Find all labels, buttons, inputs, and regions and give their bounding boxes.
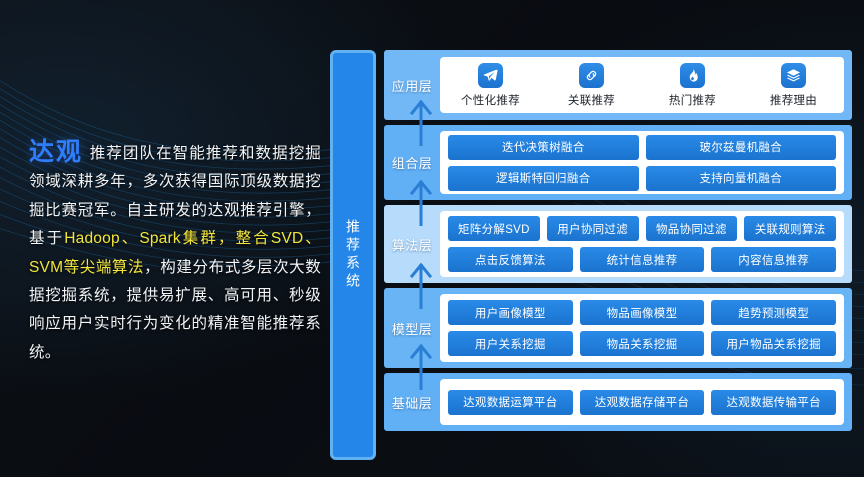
app-item-personalized[interactable]: 个性化推荐 (450, 63, 532, 108)
layer-algorithm[interactable]: 算法层 矩阵分解SVD 用户协同过滤 物品协同过滤 关联规则算法 点击反馈算法 … (384, 205, 852, 283)
chip-user-relation-mining[interactable]: 用户关系挖掘 (448, 331, 573, 356)
layer-composition[interactable]: 组合层 迭代决策树融合 玻尔兹曼机融合 逻辑斯特回归融合 支持向量机融合 (384, 125, 852, 200)
chip-row: 矩阵分解SVD 用户协同过滤 物品协同过滤 关联规则算法 (448, 216, 836, 241)
chip-statistical-rec[interactable]: 统计信息推荐 (580, 247, 705, 272)
app-item-related-label: 关联推荐 (568, 92, 615, 108)
composition-chip-grid: 迭代决策树融合 玻尔兹曼机融合 逻辑斯特回归融合 支持向量机融合 (440, 131, 844, 194)
system-rail: 推荐系统 (330, 50, 376, 460)
chip-user-profile-model[interactable]: 用户画像模型 (448, 300, 573, 325)
intro-paragraph: 达观推荐团队在智能推荐和数据挖掘领域深耕多年，多次获得国际顶级数据挖掘比赛冠军。… (29, 138, 321, 367)
intro-copy-block: 达观推荐团队在智能推荐和数据挖掘领域深耕多年，多次获得国际顶级数据挖掘比赛冠军。… (29, 138, 321, 367)
layer-stack: 应用层 个性化推荐 关联推荐 (384, 50, 852, 460)
chip-row: 用户关系挖掘 物品关系挖掘 用户物品关系挖掘 (448, 331, 836, 356)
chip-row: 逻辑斯特回归融合 支持向量机融合 (448, 166, 836, 191)
app-item-reason-label: 推荐理由 (770, 92, 817, 108)
app-item-hot[interactable]: 热门推荐 (652, 63, 734, 108)
chip-transport-platform[interactable]: 达观数据传输平台 (711, 390, 836, 415)
layer-composition-label: 组合层 (384, 153, 440, 172)
chip-user-cf[interactable]: 用户协同过滤 (547, 216, 639, 241)
send-icon (478, 63, 503, 88)
algorithm-chip-grid: 矩阵分解SVD 用户协同过滤 物品协同过滤 关联规则算法 点击反馈算法 统计信息… (440, 211, 844, 277)
chip-user-item-relation-mining[interactable]: 用户物品关系挖掘 (711, 331, 836, 356)
chip-gbdt-fusion[interactable]: 迭代决策树融合 (448, 135, 639, 160)
chip-row: 迭代决策树融合 玻尔兹曼机融合 (448, 135, 836, 160)
chip-item-cf[interactable]: 物品协同过滤 (646, 216, 738, 241)
chip-row: 用户画像模型 物品画像模型 趋势预测模型 (448, 300, 836, 325)
app-item-reason[interactable]: 推荐理由 (753, 63, 835, 108)
chip-row: 达观数据运算平台 达观数据存储平台 达观数据传输平台 (448, 390, 836, 415)
brand-name: 达观 (29, 138, 83, 166)
chip-trend-prediction-model[interactable]: 趋势预测模型 (711, 300, 836, 325)
architecture-diagram: 推荐系统 应用层 个性化推荐 关 (330, 50, 852, 460)
application-item-list: 个性化推荐 关联推荐 热门推荐 (440, 57, 844, 113)
chip-compute-platform[interactable]: 达观数据运算平台 (448, 390, 573, 415)
layer-application-label: 应用层 (384, 76, 440, 95)
chip-content-rec[interactable]: 内容信息推荐 (711, 247, 836, 272)
chip-storage-platform[interactable]: 达观数据存储平台 (580, 390, 705, 415)
chip-association-rules[interactable]: 关联规则算法 (744, 216, 836, 241)
app-item-personalized-label: 个性化推荐 (461, 92, 520, 108)
layer-application[interactable]: 应用层 个性化推荐 关联推荐 (384, 50, 852, 120)
chip-matrix-svd[interactable]: 矩阵分解SVD (448, 216, 540, 241)
chip-logistic-fusion[interactable]: 逻辑斯特回归融合 (448, 166, 639, 191)
fire-icon (680, 63, 705, 88)
layer-model-label: 模型层 (384, 319, 440, 338)
chip-svm-fusion[interactable]: 支持向量机融合 (646, 166, 837, 191)
system-rail-label: 推荐系统 (343, 219, 363, 291)
chip-click-feedback[interactable]: 点击反馈算法 (448, 247, 573, 272)
chip-boltzmann-fusion[interactable]: 玻尔兹曼机融合 (646, 135, 837, 160)
layer-algorithm-label: 算法层 (384, 235, 440, 254)
model-chip-grid: 用户画像模型 物品画像模型 趋势预测模型 用户关系挖掘 物品关系挖掘 用户物品关… (440, 294, 844, 362)
base-chip-grid: 达观数据运算平台 达观数据存储平台 达观数据传输平台 (440, 379, 844, 425)
layers-icon (781, 63, 806, 88)
app-item-hot-label: 热门推荐 (669, 92, 716, 108)
chip-item-relation-mining[interactable]: 物品关系挖掘 (580, 331, 705, 356)
layer-model[interactable]: 模型层 用户画像模型 物品画像模型 趋势预测模型 用户关系挖掘 物品关系挖掘 用… (384, 288, 852, 368)
layer-base-label: 基础层 (384, 393, 440, 412)
layer-base[interactable]: 基础层 达观数据运算平台 达观数据存储平台 达观数据传输平台 (384, 373, 852, 431)
app-item-related[interactable]: 关联推荐 (551, 63, 633, 108)
link-icon (579, 63, 604, 88)
chip-item-profile-model[interactable]: 物品画像模型 (580, 300, 705, 325)
slide-root: 达观推荐团队在智能推荐和数据挖掘领域深耕多年，多次获得国际顶级数据挖掘比赛冠军。… (0, 0, 864, 477)
chip-row: 点击反馈算法 统计信息推荐 内容信息推荐 (448, 247, 836, 272)
